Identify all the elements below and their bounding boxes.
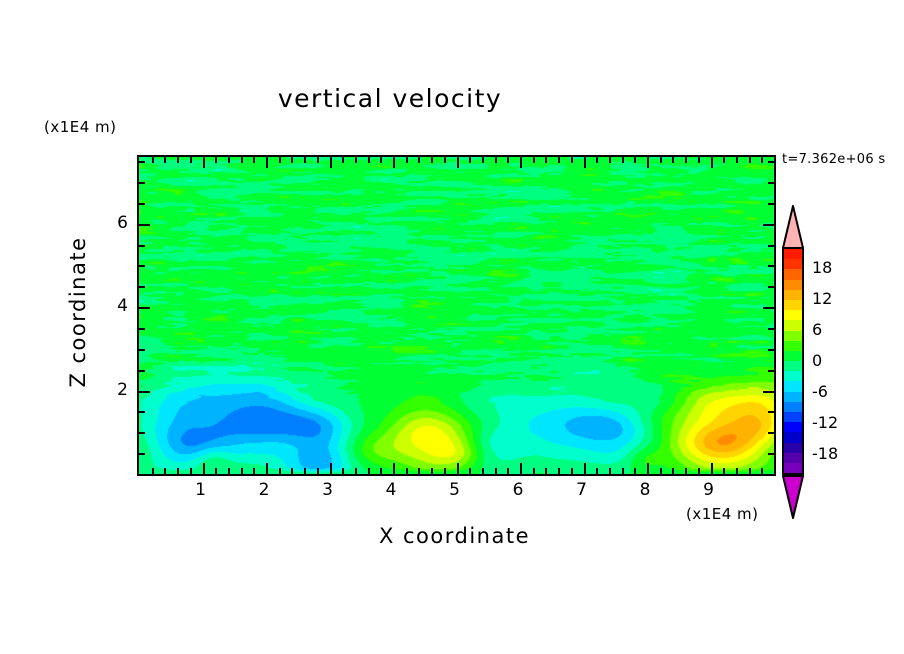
colorbar-band: [784, 443, 802, 453]
colorbar-band: [784, 269, 802, 279]
colorbar[interactable]: [782, 247, 804, 475]
colorbar-tick-label: -6: [812, 382, 828, 401]
x-axis-unit-label: (x1E4 m): [686, 505, 759, 523]
y-tick-label: 6: [88, 213, 128, 233]
x-tick-label: 8: [625, 480, 665, 500]
vertical-velocity-field: [139, 157, 774, 474]
colorbar-band: [784, 371, 802, 381]
colorbar-band: [784, 300, 802, 310]
colorbar-over-arrow: [782, 205, 804, 249]
colorbar-band: [784, 331, 802, 341]
x-tick-label: 1: [181, 480, 221, 500]
colorbar-band: [784, 310, 802, 320]
figure-root: vertical velocity (x1E4 m) (x1E4 m) t=7.…: [0, 0, 904, 654]
y-tick-label: 2: [88, 380, 128, 400]
colorbar-tick-label: 0: [812, 351, 822, 370]
y-axis-unit-label: (x1E4 m): [44, 118, 117, 136]
colorbar-band: [784, 259, 802, 269]
colorbar-band: [784, 320, 802, 330]
x-tick-label: 2: [244, 480, 284, 500]
y-axis-title: Z coordinate: [66, 212, 90, 412]
timestamp-annotation: t=7.362e+06 s: [782, 152, 885, 167]
colorbar-band: [784, 432, 802, 442]
colorbar-band: [784, 422, 802, 432]
colorbar-band: [784, 392, 802, 402]
colorbar-band: [784, 290, 802, 300]
colorbar-band: [784, 280, 802, 290]
colorbar-tick-label: 12: [812, 289, 832, 308]
colorbar-band: [784, 361, 802, 371]
colorbar-band: [784, 463, 802, 473]
colorbar-band: [784, 453, 802, 463]
colorbar-band: [784, 341, 802, 351]
x-tick-label: 4: [371, 480, 411, 500]
x-tick-label: 9: [689, 480, 729, 500]
x-axis-title: X coordinate: [137, 524, 772, 548]
colorbar-band: [784, 249, 802, 259]
colorbar-under-arrow: [782, 475, 804, 519]
contour-plot-area: [137, 155, 776, 476]
x-tick-label: 6: [498, 480, 538, 500]
colorbar-band: [784, 412, 802, 422]
colorbar-band: [784, 381, 802, 391]
x-tick-label: 3: [308, 480, 348, 500]
colorbar-tick-label: -18: [812, 444, 838, 463]
colorbar-tick-label: 18: [812, 258, 832, 277]
x-tick-label: 5: [435, 480, 475, 500]
y-tick-label: 4: [88, 296, 128, 316]
x-tick-label: 7: [562, 480, 602, 500]
page-title: vertical velocity: [0, 84, 780, 113]
colorbar-tick-label: 6: [812, 320, 822, 339]
colorbar-band: [784, 351, 802, 361]
colorbar-band: [784, 402, 802, 412]
colorbar-tick-label: -12: [812, 413, 838, 432]
